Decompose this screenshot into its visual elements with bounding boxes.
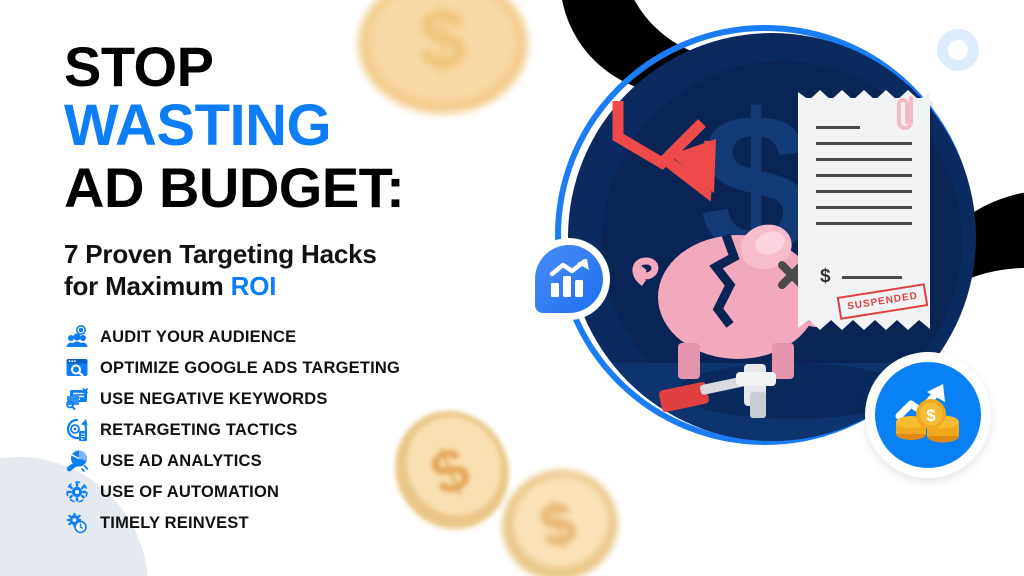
receipt-amount-line xyxy=(842,276,902,279)
list-item: USE AD ANALYTICS xyxy=(64,450,514,472)
list-item: AUDIT YOUR AUDIENCE xyxy=(64,326,514,348)
receipt-amount-symbol: $ xyxy=(820,266,831,288)
receipt-document: $ SUSPENDED xyxy=(798,98,930,320)
poster-canvas: $ xyxy=(0,0,1024,576)
bar-chart-trend-icon xyxy=(535,245,603,313)
retargeting-icon xyxy=(64,418,90,442)
floating-coin-bottom-right: $ xyxy=(495,455,625,576)
subtitle: 7 Proven Targeting Hacks for Maximum ROI xyxy=(64,239,514,302)
bar-chart-badge[interactable] xyxy=(528,238,610,320)
coins-growth-badge[interactable]: $ xyxy=(865,352,991,478)
headline-line-3: AD BUDGET: xyxy=(64,161,514,215)
receipt-line xyxy=(816,158,912,161)
subtitle-accent-roi: ROI xyxy=(231,271,277,301)
receipt-line xyxy=(816,206,912,209)
list-item: RETARGETING TACTICS xyxy=(64,419,514,441)
status-badge-suspended: SUSPENDED xyxy=(837,283,929,320)
analytics-pie-icon xyxy=(64,449,90,473)
receipt-line xyxy=(816,222,912,225)
list-item-label: TIMELY REINVEST xyxy=(100,514,249,533)
headline-line-1: STOP xyxy=(64,40,514,94)
list-item-label: AUDIT YOUR AUDIENCE xyxy=(100,328,296,347)
list-item: USE NEGATIVE KEYWORDS xyxy=(64,388,514,410)
receipt-line xyxy=(816,174,912,177)
paperclip-icon xyxy=(894,94,920,141)
text-column: STOP WASTING AD BUDGET: 7 Proven Targeti… xyxy=(64,40,514,543)
list-item: OPTIMIZE GOOGLE ADS TARGETING xyxy=(64,357,514,379)
receipt-line xyxy=(816,126,860,129)
list-item-label: USE AD ANALYTICS xyxy=(100,452,262,471)
declining-arrow-icon xyxy=(610,95,730,210)
browser-search-icon xyxy=(64,356,90,380)
benefits-list: AUDIT YOUR AUDIENCE OPTIMIZE GOOGLE ADS … xyxy=(64,326,514,534)
receipt-line xyxy=(816,142,912,145)
list-item-label: OPTIMIZE GOOGLE ADS TARGETING xyxy=(100,359,400,378)
list-item-label: RETARGETING TACTICS xyxy=(100,421,298,440)
coins-growth-icon: $ xyxy=(875,362,981,468)
list-item: TIMELY REINVEST xyxy=(64,512,514,534)
list-item-label: USE NEGATIVE KEYWORDS xyxy=(100,390,328,409)
reinvest-clock-icon xyxy=(64,511,90,535)
automation-gear-icon xyxy=(64,480,90,504)
audience-icon xyxy=(64,325,90,349)
subtitle-line-1: 7 Proven Targeting Hacks xyxy=(64,239,377,269)
headline-line-2: WASTING xyxy=(64,98,514,154)
list-item-label: USE OF AUTOMATION xyxy=(100,483,279,502)
subtitle-line-2-prefix: for Maximum xyxy=(64,271,231,301)
hammer-icon xyxy=(658,362,798,427)
receipt-line xyxy=(816,190,912,193)
keyword-exclude-icon xyxy=(64,387,90,411)
receipt-zigzag-bottom xyxy=(798,319,930,331)
list-item: USE OF AUTOMATION xyxy=(64,481,514,503)
page-title: STOP WASTING AD BUDGET: xyxy=(64,40,514,215)
svg-text:$: $ xyxy=(926,406,936,425)
